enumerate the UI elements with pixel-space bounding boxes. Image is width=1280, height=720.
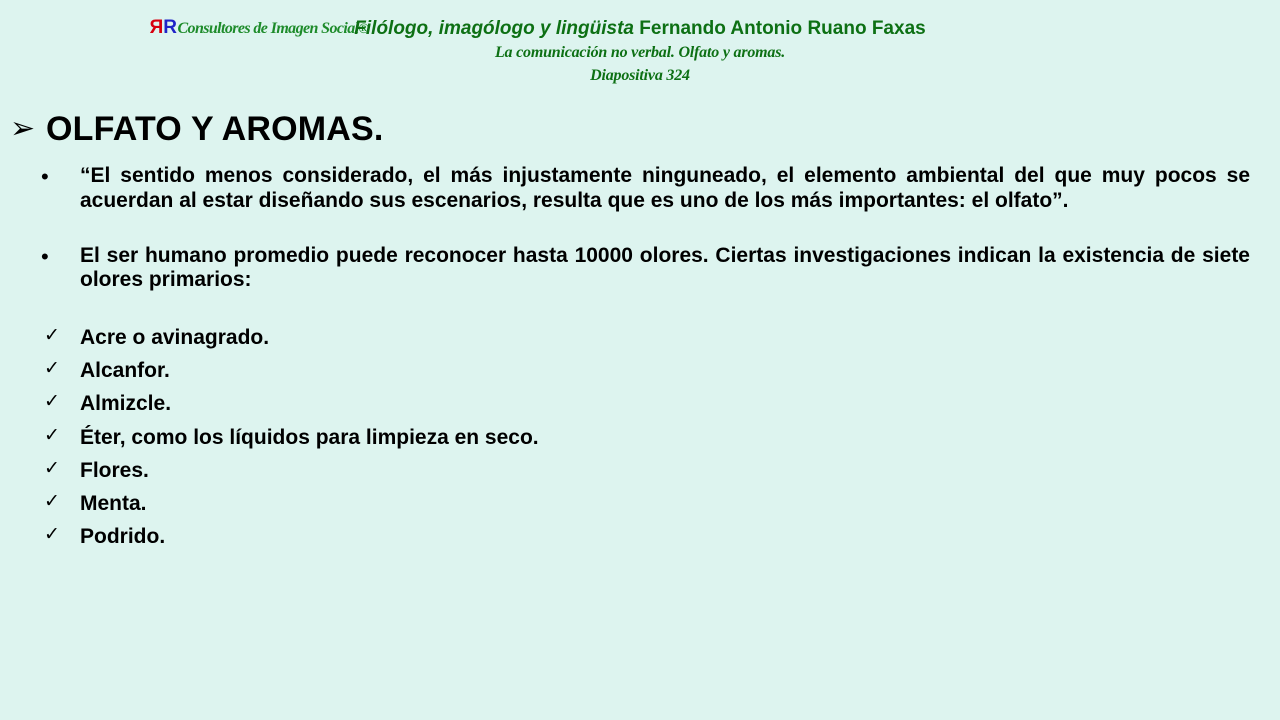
list-item: ✓ Podrido. <box>0 520 1280 553</box>
paragraph-stats: • El ser humano promedio puede reconocer… <box>0 244 1280 294</box>
list-item-label: Menta. <box>80 492 147 515</box>
header-author-name: Fernando Antonio Ruano Faxas <box>639 18 925 39</box>
list-item: ✓ Acre o avinagrado. <box>0 321 1280 354</box>
check-icon: ✓ <box>44 354 60 384</box>
header-author-role: Filólogo, imagólogo y lingüista <box>354 18 634 39</box>
header-slide-number: Diapositiva 324 <box>0 67 1280 85</box>
list-item: ✓ Menta. <box>0 487 1280 520</box>
header-subject-line: La comunicación no verbal. Olfato y arom… <box>0 44 1280 62</box>
page-title: ➢OLFATO Y AROMAS. <box>0 110 1280 156</box>
list-item: ✓ Éter, como los líquidos para limpieza … <box>0 421 1280 454</box>
check-icon: ✓ <box>44 387 60 417</box>
list-item-label: Éter, como los líquidos para limpieza en… <box>80 426 539 449</box>
paragraph-quote-text: “El sentido menos considerado, el más in… <box>80 164 1250 214</box>
list-item-label: Flores. <box>80 459 149 482</box>
header-author-line: Filólogo, imagólogo y lingüista Fernando… <box>0 18 1280 40</box>
list-item: ✓ Almizcle. <box>0 387 1280 420</box>
check-icon: ✓ <box>44 321 60 351</box>
slide: RRConsultores de Imagen Social® Filólogo… <box>0 0 1280 720</box>
check-icon: ✓ <box>44 421 60 451</box>
list-item-label: Almizcle. <box>80 392 171 415</box>
list-item-label: Acre o avinagrado. <box>80 326 269 349</box>
page-title-text: OLFATO Y AROMAS. <box>46 110 384 148</box>
slide-content: ➢OLFATO Y AROMAS. • “El sentido menos co… <box>0 110 1280 553</box>
list-item: ✓ Alcanfor. <box>0 354 1280 387</box>
paragraph-stats-text: El ser humano promedio puede reconocer h… <box>80 244 1250 294</box>
primary-odors-list: ✓ Acre o avinagrado. ✓ Alcanfor. ✓ Almiz… <box>0 321 1280 553</box>
slide-header: RRConsultores de Imagen Social® Filólogo… <box>0 0 1280 100</box>
check-icon: ✓ <box>44 454 60 484</box>
list-item: ✓ Flores. <box>0 454 1280 487</box>
check-icon: ✓ <box>44 487 60 517</box>
dot-bullet-icon: • <box>41 244 49 270</box>
paragraph-quote: • “El sentido menos considerado, el más … <box>0 164 1280 214</box>
dot-bullet-icon: • <box>41 164 49 190</box>
list-item-label: Alcanfor. <box>80 359 170 382</box>
arrow-bullet-icon: ➢ <box>10 112 35 147</box>
list-item-label: Podrido. <box>80 525 165 548</box>
check-icon: ✓ <box>44 520 60 550</box>
